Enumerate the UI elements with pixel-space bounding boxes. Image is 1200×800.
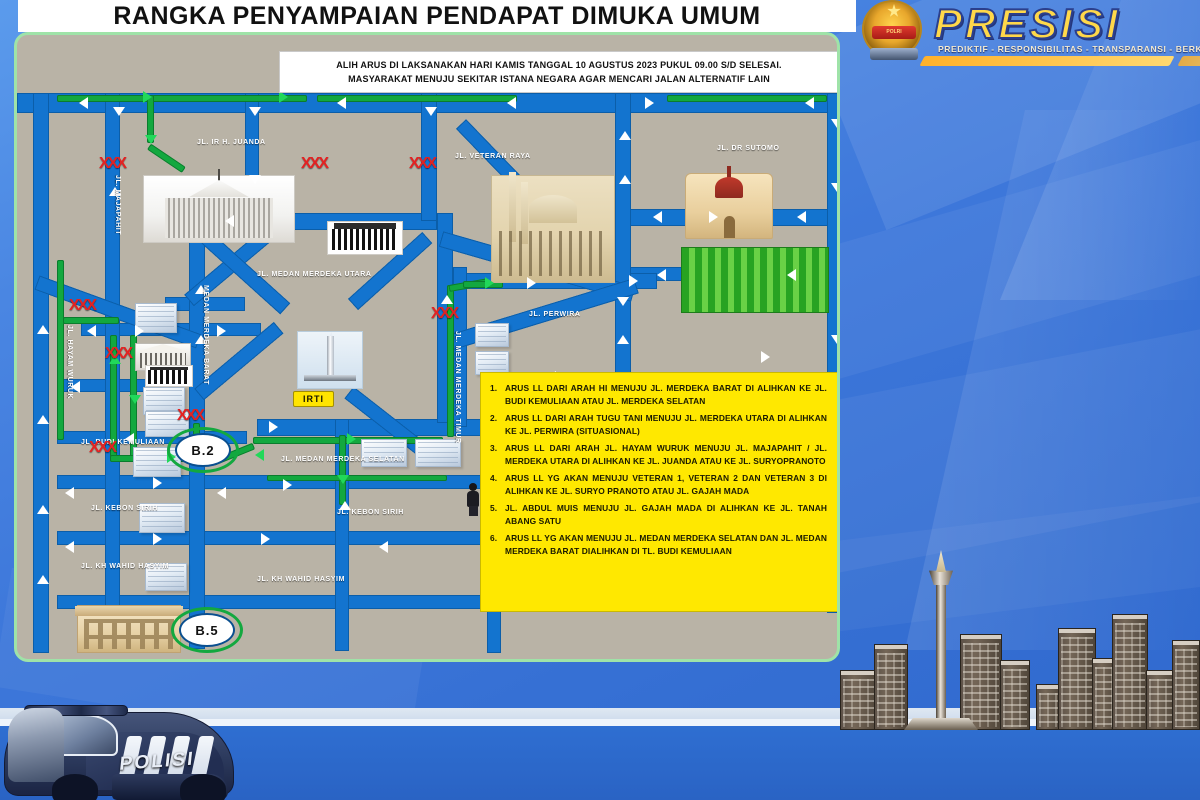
direction-arrow-up (619, 175, 631, 184)
emblem-base (870, 48, 918, 60)
direction-arrow-left (805, 97, 814, 109)
notice-line-1: ALIH ARUS DI LAKSANAKAN HARI KAMIS TANGG… (336, 58, 782, 72)
diverted-arrow-down (129, 395, 141, 404)
direction-arrow-left (87, 325, 96, 337)
direction-arrow-left (379, 541, 388, 553)
road-wahid-hasyim-west (57, 531, 487, 545)
instruction-item: ARUS LL YG AKAN MENUJU VETERAN 1, VETERA… (489, 472, 827, 497)
pedestrian-figure-icon (465, 483, 481, 515)
irti-label-tag: IRTI (293, 391, 334, 407)
jakarta-skyline (840, 520, 1200, 730)
direction-arrow-right (283, 479, 292, 491)
direction-arrow-left (657, 269, 666, 281)
closure-mark: XXX (409, 157, 435, 171)
skyline-building (874, 644, 908, 730)
emblem-band-label: POLRI (872, 26, 916, 39)
green-route-south-1 (339, 435, 346, 505)
direction-arrow-right (629, 275, 638, 287)
closure-mark: XXX (301, 157, 327, 171)
monas-map-icon (297, 331, 363, 389)
government-building-icon (77, 605, 181, 653)
road-label-kebon-sirih-west: JL. KEBON SIRIH (91, 505, 158, 512)
diverted-arrow-left (255, 449, 264, 461)
closure-mark: XXX (69, 299, 95, 313)
direction-arrow-down (249, 175, 261, 184)
direction-arrow-left (65, 541, 74, 553)
instruction-item: ARUS LL DARI ARAH TUGU TANI MENUJU JL. M… (489, 412, 827, 437)
diverted-arrow-right (143, 91, 152, 103)
direction-arrow-right (645, 97, 654, 109)
diverted-arrow-right (485, 277, 494, 289)
green-route-west-link (63, 317, 119, 324)
traffic-notice-box: ALIH ARUS DI LAKSANAKAN HARI KAMIS TANGG… (279, 51, 839, 93)
page-title-band: RANGKA PENYAMPAIAN PENDAPAT DIMUKA UMUM (18, 0, 856, 32)
monas-monument-icon (926, 552, 956, 730)
logo-swoosh-2 (1177, 56, 1200, 66)
instruction-item: ARUS LL DARI ARAH JL. HAYAM WURUK MENUJU… (489, 442, 827, 467)
presisi-tagline: PREDIKTIF - RESPONSIBILITAS - TRANSPARAN… (938, 44, 1200, 54)
direction-arrow-left (337, 97, 346, 109)
direction-arrow-left (79, 97, 88, 109)
direction-arrow-left (217, 487, 226, 499)
direction-arrow-up (37, 575, 49, 584)
direction-arrow-down (425, 107, 437, 116)
map-canvas: JL. IR H. JUANDA JL. VETERAN RAYA JL. DR… (17, 35, 837, 659)
police-car-graphic: POLISI (0, 670, 244, 800)
road-label-dr-sutomo: JL. DR SUTOMO (717, 145, 780, 152)
road-label-merdeka-utara: JL. MEDAN MERDEKA UTARA (257, 271, 372, 278)
direction-arrow-up (617, 335, 629, 344)
direction-arrow-left (65, 487, 74, 499)
direction-arrow-right (261, 533, 270, 545)
green-route-sutomo (667, 95, 827, 102)
direction-arrow-up (37, 415, 49, 424)
green-route-juanda (57, 95, 307, 102)
direction-arrow-down (831, 335, 840, 344)
presisi-logo-block: POLRI PRESISI PREDIKTIF - RESPONSIBILITA… (862, 0, 1200, 62)
diverted-arrow-down (145, 135, 157, 144)
landmark-building-icon (327, 221, 403, 255)
car-wheel (180, 774, 226, 800)
road-west-boundary (33, 93, 49, 653)
closure-mark: XXX (89, 441, 115, 455)
direction-arrow-down (617, 297, 629, 306)
road-label-juanda: JL. IR H. JUANDA (197, 139, 266, 146)
instruction-item: JL. ABDUL MUIS MENUJU JL. GAJAH MADA DI … (489, 502, 827, 527)
road-label-veteran-raya: JL. VETERAN RAYA (455, 153, 531, 160)
direction-arrow-up (37, 325, 49, 334)
page-title: RANGKA PENYAMPAIAN PENDAPAT DIMUKA UMUM (113, 2, 760, 31)
direction-arrow-right (153, 533, 162, 545)
direction-arrow-right (709, 211, 718, 223)
istana-negara-icon (143, 175, 295, 243)
police-officer-figure (8, 708, 64, 782)
office-building-icon (475, 323, 509, 347)
skyline-building (1172, 640, 1200, 730)
instruction-item: ARUS LL YG AKAN MENUJU JL. MEDAN MERDEKA… (489, 532, 827, 557)
diverted-arrow-right (347, 433, 356, 445)
direction-arrow-left (507, 97, 516, 109)
traffic-diversion-map[interactable]: JL. IR H. JUANDA JL. VETERAN RAYA JL. DR… (14, 32, 840, 662)
istiqlal-mosque-icon (491, 175, 615, 283)
direction-arrow-right (527, 277, 536, 289)
road-label-merdeka-selatan: JL. MEDAN MERDEKA SELATAN (281, 456, 405, 463)
green-route-veteran (317, 95, 517, 102)
direction-arrow-right (135, 325, 144, 337)
closure-mark: XXX (431, 307, 457, 321)
road-label-perwira: JL. PERWIRA (529, 311, 581, 318)
skyline-building (1058, 628, 1096, 730)
instruction-list: ARUS LL DARI ARAH HI MENUJU JL. MERDEKA … (489, 382, 827, 557)
skyline-building (960, 634, 1002, 730)
direction-arrow-up (619, 131, 631, 140)
instruction-item: ARUS LL DARI ARAH HI MENUJU JL. MERDEKA … (489, 382, 827, 407)
direction-arrow-left (787, 269, 796, 281)
skyline-building (1000, 660, 1030, 730)
direction-arrow-right (217, 325, 226, 337)
direction-arrow-down (831, 183, 840, 192)
closure-mark: XXX (105, 347, 131, 361)
direction-arrow-down (249, 107, 261, 116)
closure-mark: XXX (177, 409, 203, 423)
road-label-majapahit: JL. MAJAPAHIT (114, 175, 121, 235)
road-label-wahid-hasyim-east: JL. KH WAHID HASYIM (257, 576, 345, 583)
car-wheel (52, 774, 98, 800)
green-route-diag-1 (147, 144, 186, 173)
direction-arrow-down (113, 107, 125, 116)
direction-arrow-left (225, 215, 234, 227)
green-route-kebon-sirih (267, 475, 447, 481)
diverted-arrow-down (337, 475, 349, 484)
node-b2[interactable]: B.2 (175, 433, 231, 467)
direction-arrow-left (653, 211, 662, 223)
road-label-merdeka-timur: JL. MEDAN MERDEKA TIMUR (454, 331, 461, 444)
green-route-west (57, 260, 64, 440)
logo-swoosh-1 (919, 56, 1174, 66)
diversion-instructions-box: ARUS LL DARI ARAH HI MENUJU JL. MERDEKA … (480, 372, 838, 612)
road-label-wahid-hasyim-west: JL. KH WAHID HASYIM (81, 563, 169, 570)
closure-mark: XXX (99, 157, 125, 171)
direction-arrow-right (761, 351, 770, 363)
direction-arrow-up (441, 295, 453, 304)
direction-arrow-left (797, 211, 806, 223)
notice-line-2: MASYARAKAT MENUJU SEKITAR ISTANA NEGARA … (348, 72, 770, 86)
direction-arrow-up (37, 505, 49, 514)
direction-arrow-right (269, 421, 278, 433)
cathedral-icon (685, 173, 773, 239)
road-label-merdeka-barat: MEDAN MERDEKA BARAT (202, 285, 209, 385)
road-label-hayam-wuruk: JL. HAYAM WURUK (66, 325, 73, 399)
monument-icon-small (145, 365, 193, 387)
direction-arrow-right (153, 477, 162, 489)
node-b5[interactable]: B.5 (179, 613, 235, 647)
polri-emblem-icon: POLRI (862, 0, 922, 58)
direction-arrow-down (831, 119, 840, 128)
road-label-kebon-sirih-east: JL. KEBON SIRIH (337, 509, 404, 516)
presisi-wordmark: PRESISI (934, 2, 1121, 46)
skyline-tower (1112, 614, 1148, 730)
emblem-star-icon (887, 4, 901, 18)
green-field-area (681, 247, 829, 313)
